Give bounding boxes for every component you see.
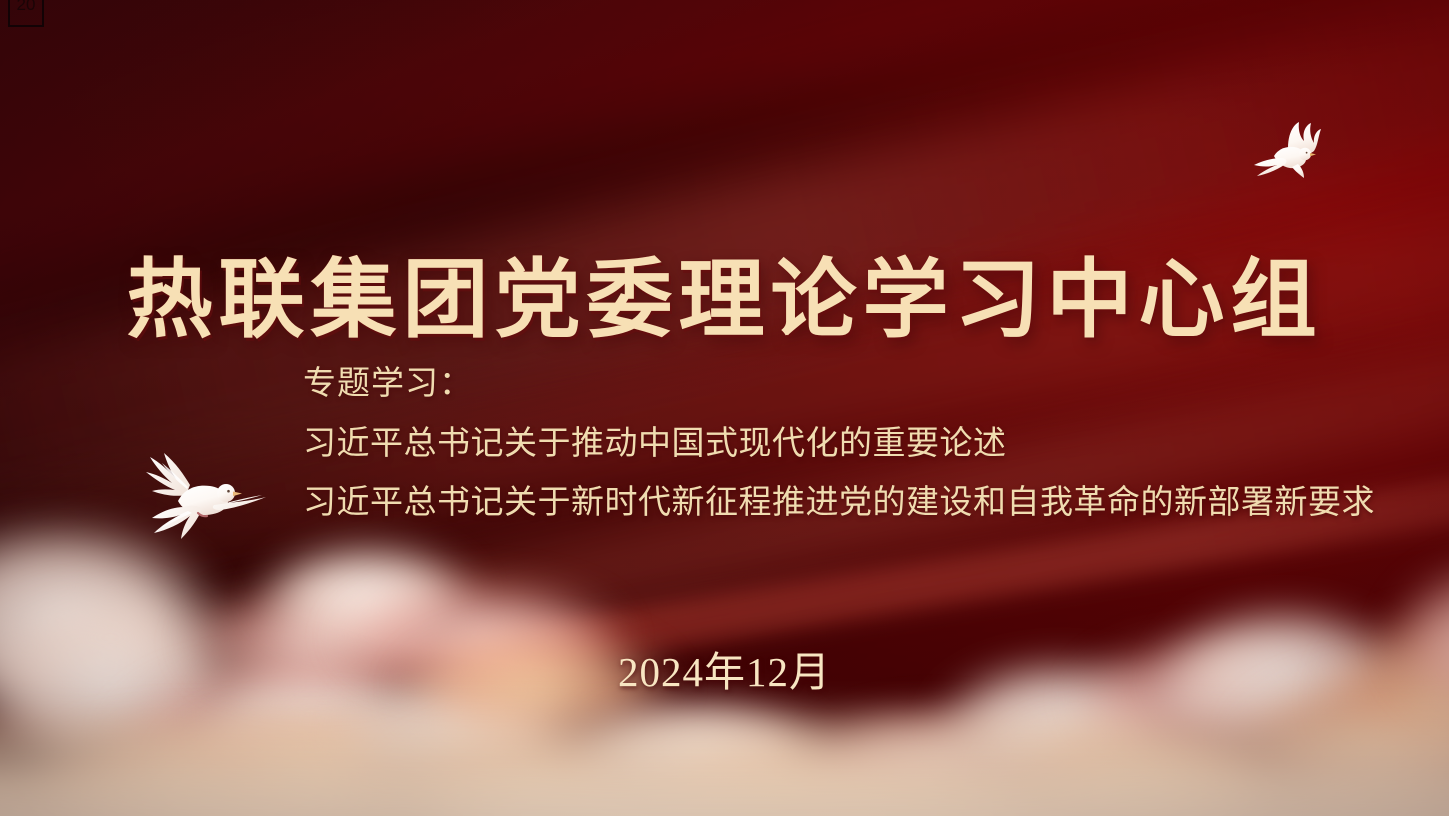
- page-number-text: 20: [17, 0, 36, 25]
- subject-block: 专题学习： 习近平总书记关于推动中国式现代化的重要论述 习近平总书记关于新时代新…: [303, 368, 1375, 520]
- slide-date: 2024年12月: [0, 638, 1449, 698]
- subject-line-1: 习近平总书记关于推动中国式现代化的重要论述: [303, 428, 1375, 461]
- page-number-marker: 20: [8, 0, 44, 27]
- subject-line-2: 习近平总书记关于新时代新征程推进党的建设和自我革命的新部署新要求: [303, 487, 1375, 520]
- peace-dove-top-right: [1244, 118, 1330, 188]
- subject-label: 专题学习：: [303, 368, 1375, 401]
- peace-dove-left: [138, 445, 270, 545]
- presentation-slide: 热联集团党委理论学习中心组 专题学习： 习近平总书记关于推动中国式现代化的重要论…: [0, 0, 1449, 816]
- page-title: 热联集团党委理论学习中心组: [0, 252, 1449, 348]
